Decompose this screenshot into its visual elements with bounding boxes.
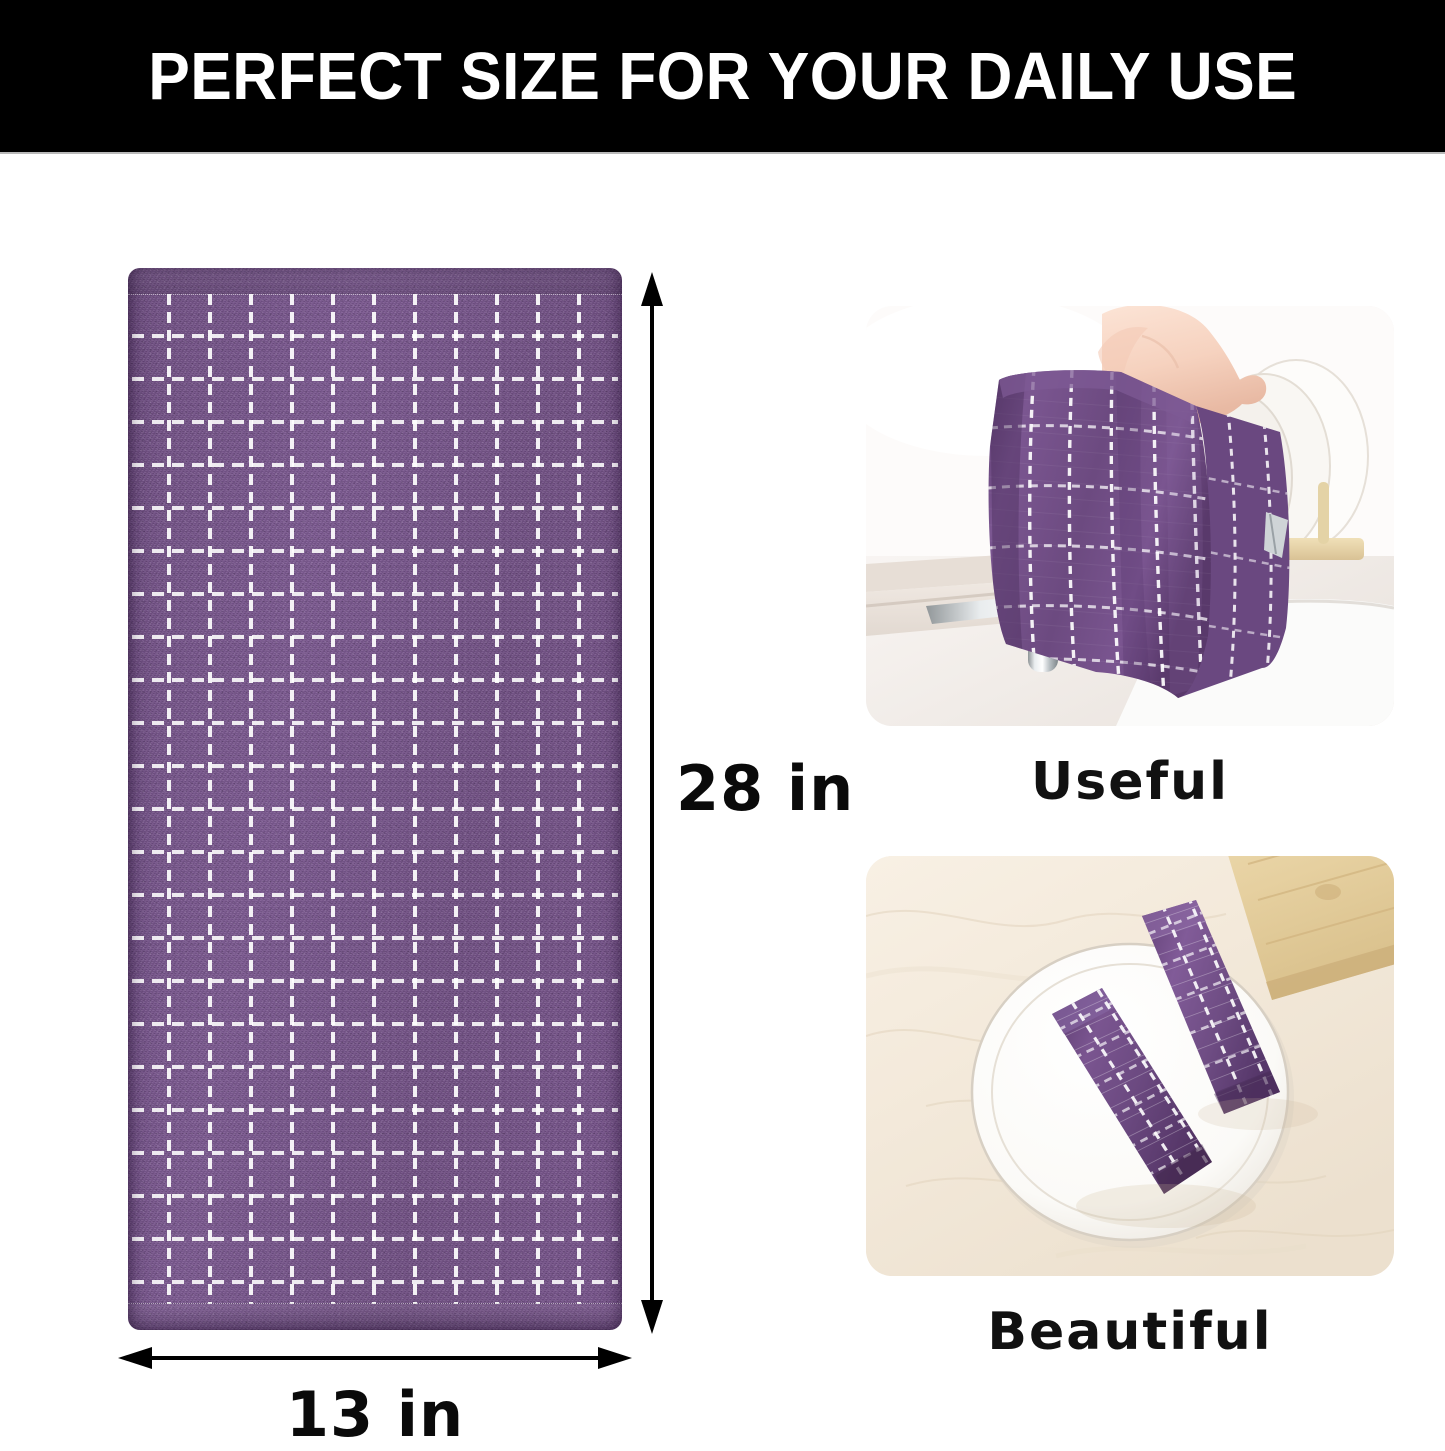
- dimension-label-height: 28 in: [676, 752, 854, 825]
- photo-useful-scene: [866, 306, 1394, 726]
- product-towel-figure: [128, 268, 622, 1330]
- photo-panel-useful: [866, 306, 1394, 726]
- header-divider: [0, 152, 1445, 154]
- dimension-line-horizontal: [118, 1334, 632, 1382]
- towel-hem-bottom: [128, 1303, 622, 1330]
- dimension-line-vertical: [626, 272, 678, 1334]
- panel-caption-beautiful: Beautiful: [866, 1302, 1394, 1362]
- towel-grid-pattern: [128, 268, 622, 1330]
- panel-caption-useful: Useful: [866, 752, 1394, 812]
- photo-beautiful-scene: [866, 856, 1394, 1276]
- photo-panel-beautiful: [866, 856, 1394, 1276]
- towel-hem-top: [128, 268, 622, 295]
- header-banner: PERFECT SIZE FOR YOUR DAILY USE: [0, 0, 1445, 152]
- dimension-label-width: 13 in: [128, 1378, 622, 1451]
- page-title: PERFECT SIZE FOR YOUR DAILY USE: [148, 43, 1297, 110]
- towel-body: [128, 268, 622, 1330]
